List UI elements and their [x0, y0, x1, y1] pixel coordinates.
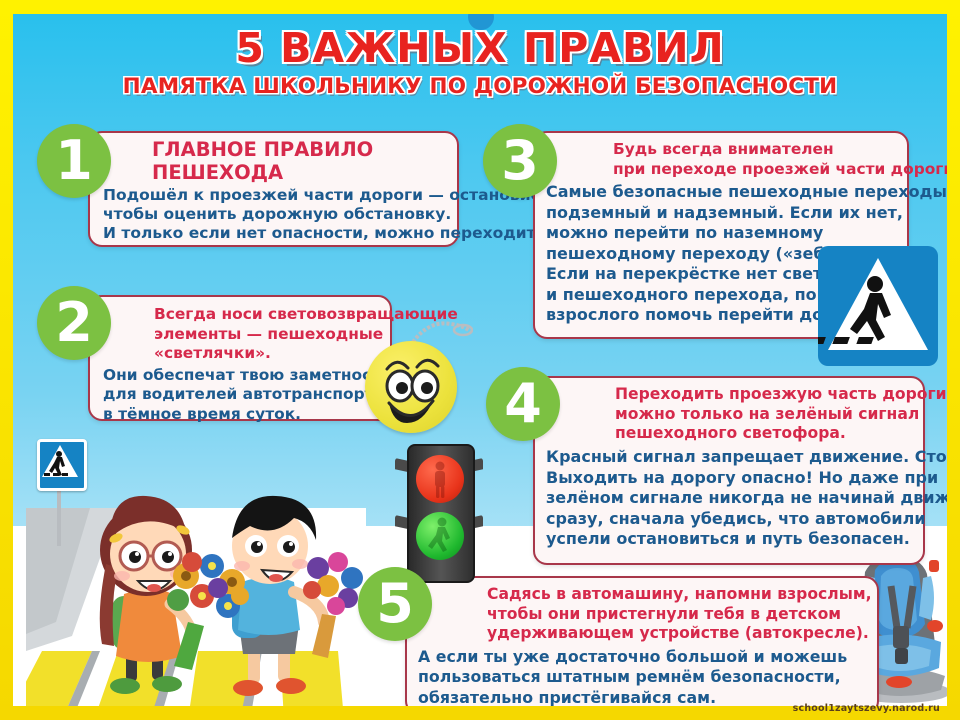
rule-3-heading-line-1: Будь всегда внимателен — [613, 140, 899, 160]
traffic-light-green-lamp — [416, 512, 464, 560]
rule-4-body-line-1: Красный сигнал запрещает движение. Стой! — [546, 447, 915, 468]
rule-5-heading-line-1: Садясь в автомашину, напомни взрослым, — [487, 585, 869, 605]
traffic-light-red-lamp — [416, 455, 464, 503]
rule-2-body-line-2: для водителей автотранспорта — [103, 385, 382, 405]
sign-post — [57, 484, 61, 546]
rule-3-body-line-2: подземный и надземный. Если их нет, — [546, 203, 899, 224]
reflector-chain-icon — [411, 318, 473, 342]
rule-4-heading-line-2: можно только на зелёный сигнал — [615, 405, 915, 425]
poster-root: 5 ВАЖНЫХ ПРАВИЛ ПАМЯТКА ШКОЛЬНИКУ ПО ДОР… — [0, 0, 960, 720]
rule-badge-3: 3 — [483, 124, 557, 198]
poster-inner-canvas: 5 ВАЖНЫХ ПРАВИЛ ПАМЯТКА ШКОЛЬНИКУ ПО ДОР… — [13, 14, 947, 706]
poster-title: 5 ВАЖНЫХ ПРАВИЛ — [13, 24, 947, 72]
rule-2-body: Они обеспечат твою заметность для водите… — [103, 366, 382, 425]
rule-3-heading-line-2: при переходе проезжей части дороги! — [613, 160, 899, 180]
rule-badge-5: 5 — [358, 567, 432, 641]
rule-5-heading-line-3: удерживающем устройстве (автокресле). — [487, 624, 869, 644]
source-watermark: school1zaytszevy.narod.ru — [793, 703, 940, 714]
rule-1-heading-line-2: ПЕШЕХОДА — [152, 161, 447, 184]
poster-subtitle: ПАМЯТКА ШКОЛЬНИКУ ПО ДОРОЖНОЙ БЕЗОПАСНОС… — [13, 74, 947, 99]
rule-4-body-line-5: успели остановиться и путь безопасен. — [546, 529, 915, 550]
rule-4-heading-line-1: Переходить проезжую часть дороги — [615, 385, 915, 405]
rule-4-body-line-4: сразу, сначала убедись, что автомобили — [546, 509, 915, 530]
rule-5-heading-line-2: чтобы они пристегнули тебя в детском — [487, 605, 869, 625]
rule-card-4: Переходить проезжую часть дороги можно т… — [533, 376, 925, 565]
rule-4-body-line-2: Выходить на дорогу опасно! Но даже при — [546, 468, 915, 489]
rule-card-2: Всегда носи световозвращающие элементы —… — [88, 295, 392, 421]
rule-2-heading-line-1: Всегда носи световозвращающие — [154, 305, 382, 325]
rule-5-body-line-1: А если ты уже достаточно большой и можеш… — [418, 647, 869, 667]
rule-4-body: Красный сигнал запрещает движение. Стой!… — [546, 447, 915, 550]
rule-4-heading-line-3: пешеходного светофора. — [615, 424, 915, 444]
rule-4-body-line-3: зелёном сигнале никогда не начинай движе… — [546, 488, 915, 509]
pedestrian-traffic-light-icon — [395, 444, 483, 579]
rule-1-heading-line-1: ГЛАВНОЕ ПРАВИЛО — [152, 138, 447, 161]
rule-2-body-line-1: Они обеспечат твою заметность — [103, 366, 382, 386]
rule-badge-2: 2 — [37, 286, 111, 360]
rule-card-1: ГЛАВНОЕ ПРАВИЛО ПЕШЕХОДА Подошёл к проез… — [88, 131, 459, 247]
rule-2-heading-line-2: элементы — пешеходные — [154, 325, 382, 345]
poster-header: 5 ВАЖНЫХ ПРАВИЛ ПАМЯТКА ШКОЛЬНИКУ ПО ДОР… — [13, 24, 947, 99]
rule-2-body-line-3: в тёмное время суток. — [103, 405, 382, 425]
rule-3-body-line-1: Самые безопасные пешеходные переходы — — [546, 182, 899, 203]
rule-1-body-line-2: чтобы оценить дорожную обстановку. — [103, 205, 447, 224]
rule-card-5: Садясь в автомашину, напомни взрослым, ч… — [405, 576, 879, 706]
rule-1-body-line-1: Подошёл к проезжей части дороги — остано… — [103, 186, 447, 205]
smiley-reflector-icon — [365, 341, 457, 433]
pedestrian-crossing-sign-icon — [818, 246, 938, 366]
rule-5-body-line-2: пользоваться штатным ремнём безопасности… — [418, 667, 869, 687]
rule-5-body: А если ты уже достаточно большой и можеш… — [418, 647, 869, 706]
rule-1-body: Подошёл к проезжей части дороги — остано… — [103, 186, 447, 243]
rule-1-body-line-3: И только если нет опасности, можно перех… — [103, 224, 447, 243]
rule-3-body-line-3: можно перейти по наземному — [546, 223, 899, 244]
rule-2-heading-line-3: «светлячки». — [154, 344, 382, 364]
pedestrian-crossing-sign-small-icon — [37, 439, 87, 491]
rule-badge-1: 1 — [37, 124, 111, 198]
rule-badge-4: 4 — [486, 367, 560, 441]
